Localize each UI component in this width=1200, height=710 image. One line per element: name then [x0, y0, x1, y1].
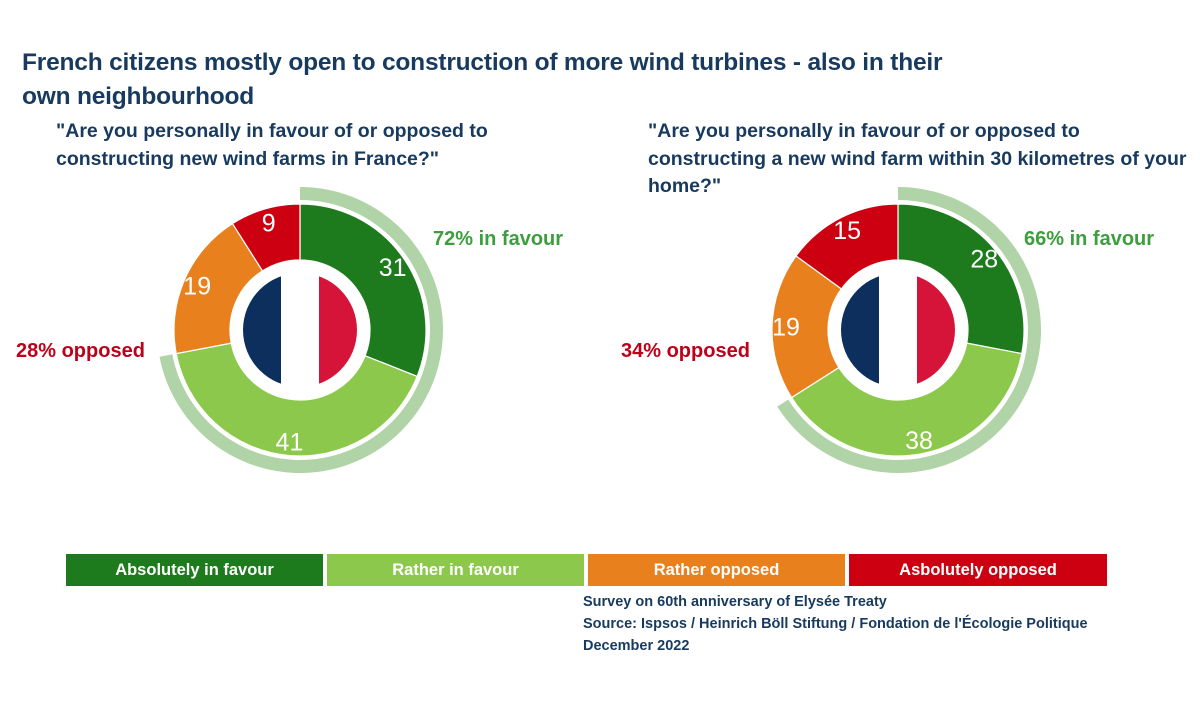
- donut-segment-value: 9: [262, 209, 276, 237]
- donut-chart-neighbourhood: 28381915: [620, 118, 1180, 518]
- favour-summary-france: 72% in favour: [433, 228, 563, 251]
- donut-svg-neighbourhood: 28381915: [748, 180, 1048, 480]
- favour-summary-neighbourhood: 66% in favour: [1024, 228, 1154, 251]
- donut-svg-france: 3141199: [150, 180, 450, 480]
- donut-segment-value: 15: [833, 217, 861, 245]
- legend-item-rather-opposed[interactable]: Rather opposed: [588, 554, 845, 586]
- opposed-summary-neighbourhood: 34% opposed: [621, 340, 750, 363]
- donut-segment-value: 19: [772, 313, 800, 341]
- donut-chart-france: 3141199: [20, 118, 580, 518]
- legend-item-absolutely-in-favour[interactable]: Absolutely in favour: [66, 554, 323, 586]
- top-edge-artifact: [30, 10, 1060, 16]
- page-title: French citizens mostly open to construct…: [22, 46, 952, 114]
- donut-segment-value: 28: [970, 246, 998, 274]
- donut-segment-value: 41: [276, 429, 304, 457]
- source-line-date: December 2022: [583, 635, 1088, 657]
- legend: Absolutely in favour Rather in favour Ra…: [66, 554, 1107, 586]
- chart-panel-france: "Are you personally in favour of or oppo…: [20, 118, 580, 518]
- source-line-source: Source: Ispsos / Heinrich Böll Stiftung …: [583, 613, 1088, 635]
- legend-label: Absolutely in favour: [115, 561, 274, 580]
- legend-label: Rather in favour: [392, 561, 519, 580]
- legend-item-rather-in-favour[interactable]: Rather in favour: [327, 554, 584, 586]
- opposed-summary-france: 28% opposed: [16, 340, 145, 363]
- source-note: Survey on 60th anniversary of Elysée Tre…: [583, 591, 1088, 657]
- source-line-survey: Survey on 60th anniversary of Elysée Tre…: [583, 591, 1088, 613]
- donut-segment-value: 31: [379, 254, 407, 282]
- chart-panel-neighbourhood: "Are you personally in favour of or oppo…: [620, 118, 1180, 518]
- donut-segment-value: 19: [183, 273, 211, 301]
- legend-label: Asbolutely opposed: [899, 561, 1057, 580]
- donut-segment-value: 38: [905, 427, 933, 455]
- legend-item-absolutely-opposed[interactable]: Asbolutely opposed: [849, 554, 1107, 586]
- legend-label: Rather opposed: [654, 561, 780, 580]
